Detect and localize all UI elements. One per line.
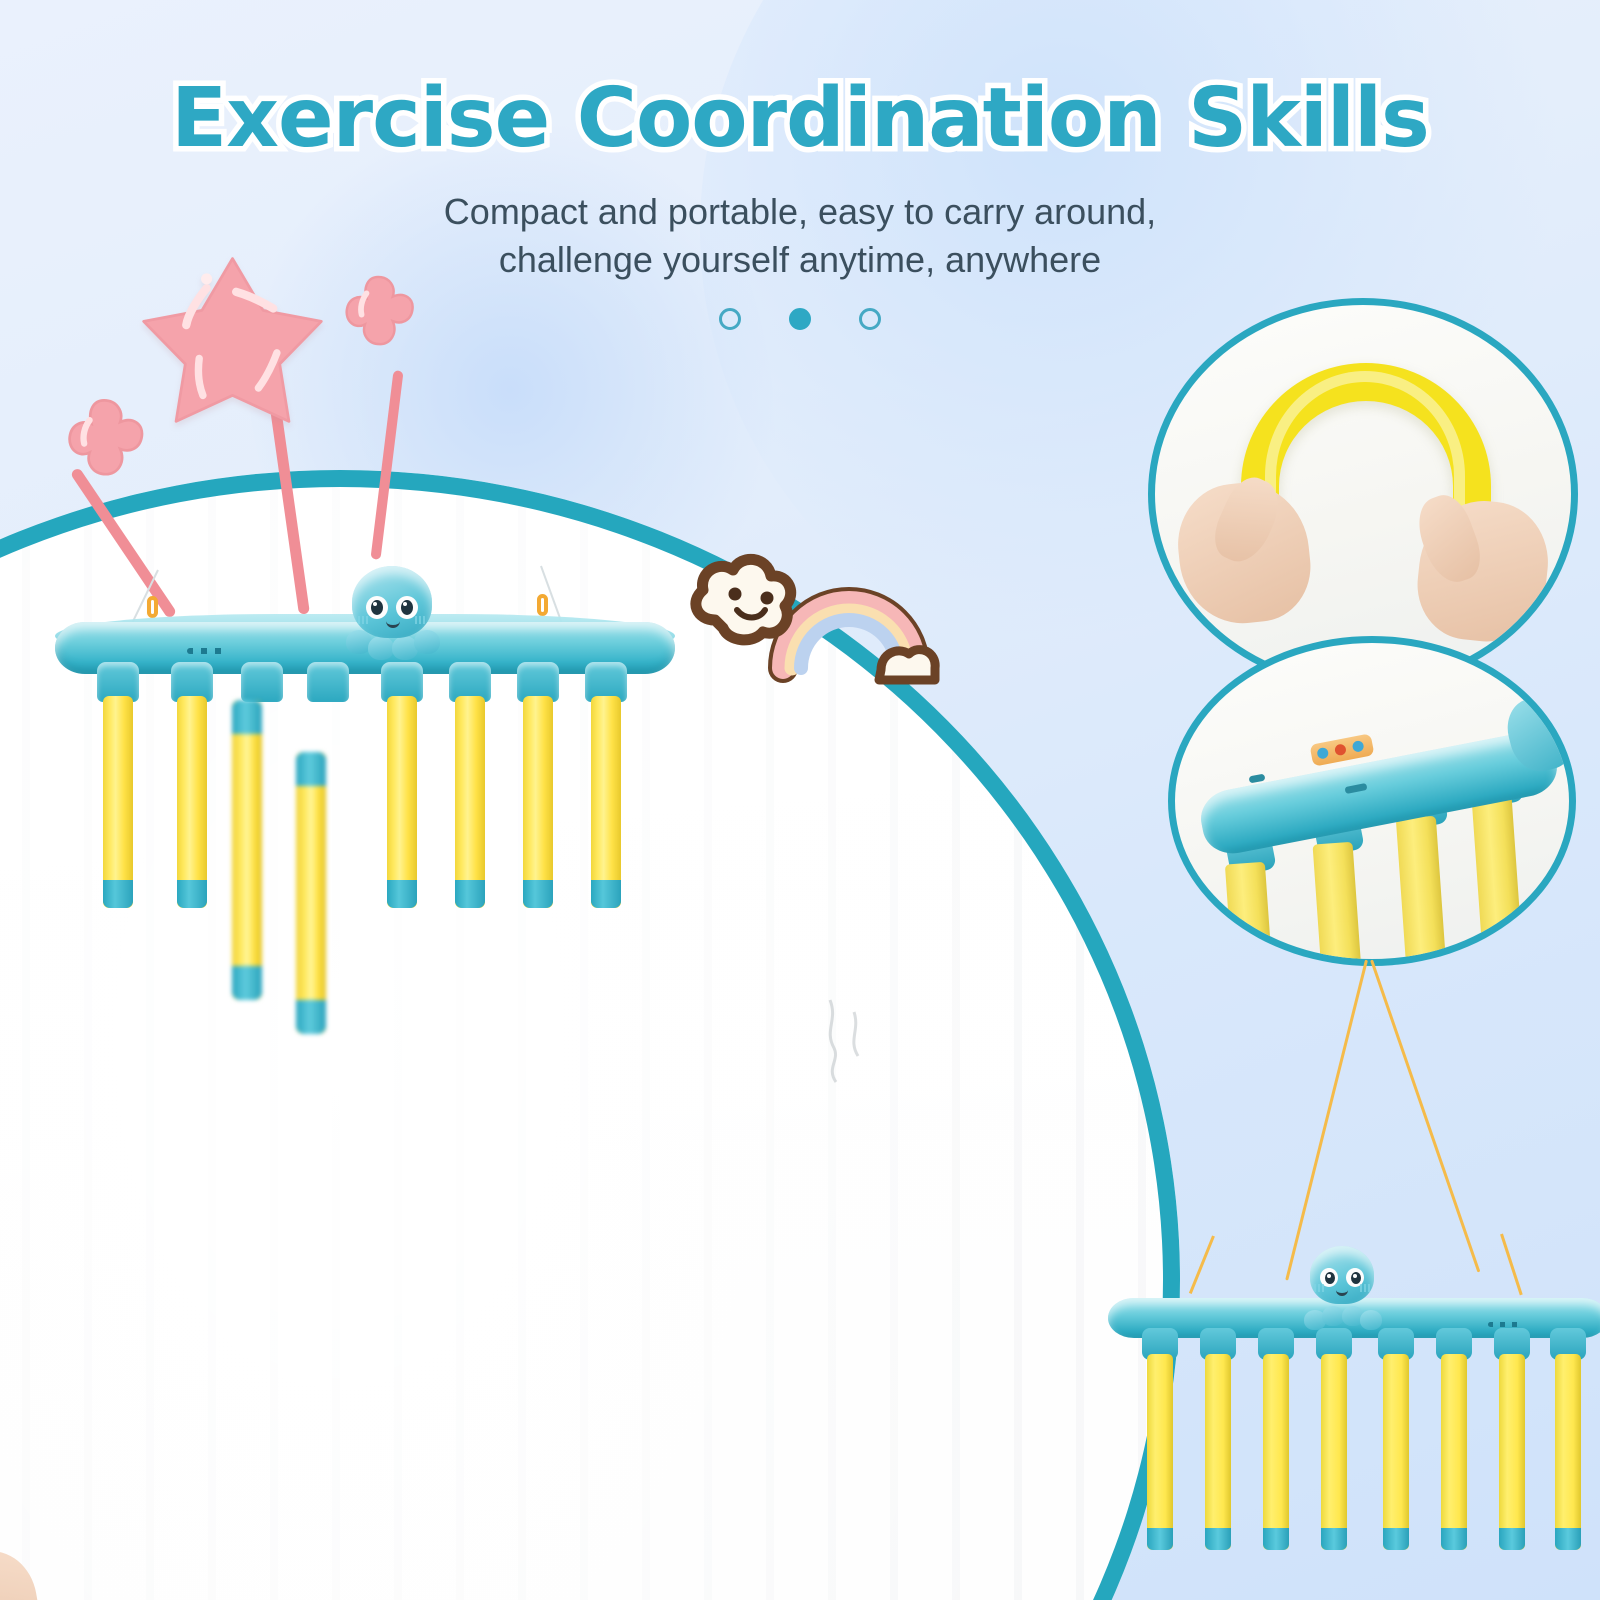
octopus-eye-left (366, 596, 388, 619)
yellow-stick (591, 696, 621, 908)
control-panel[interactable] (1309, 733, 1374, 766)
pagination-dot-1[interactable] (719, 308, 741, 330)
power-button (1316, 747, 1329, 760)
volume-button (1352, 740, 1365, 753)
wall-scribble (810, 990, 930, 1110)
octopus-blush-right (1360, 1284, 1371, 1292)
falling-stick-1 (232, 700, 262, 1000)
stick-cap-top (296, 752, 326, 786)
octopus-blush-right (415, 616, 426, 624)
pink-flower-right (336, 272, 420, 354)
subtitle-line-1: Compact and portable, easy to carry arou… (0, 188, 1600, 236)
stick-cap-top (232, 700, 262, 734)
stick-tip (455, 880, 485, 908)
carabiner-clip-left (147, 596, 158, 618)
flexible-stick-bend-closeup (1148, 298, 1578, 690)
stick-socket (241, 662, 283, 702)
stick-tip (103, 880, 133, 908)
yellow-stick (1313, 842, 1362, 966)
poster-canvas: Exercise Coordination Skills Compact and… (0, 0, 1600, 1600)
octopus-tentacle (1360, 1310, 1382, 1330)
yellow-stick (1263, 1354, 1289, 1550)
falling-stick-2 (296, 752, 326, 1034)
yellow-stick (455, 696, 485, 908)
octopus-mascot (342, 566, 442, 662)
pink-flower-left (58, 395, 150, 485)
pagination-dot-3[interactable] (859, 308, 881, 330)
boy-figure (140, 1590, 660, 1600)
yellow-stick (1383, 1354, 1409, 1550)
stick-tip (591, 880, 621, 908)
girl-right-hand (0, 1545, 47, 1600)
yellow-stick (1499, 1354, 1525, 1550)
hang-cord-right (1500, 1234, 1523, 1296)
yellow-stick (523, 696, 553, 908)
yellow-stick (1471, 794, 1522, 956)
stick-cap-bottom (296, 1000, 326, 1034)
cloud-right-puff (879, 650, 935, 680)
bar-indicator-dots (187, 648, 225, 654)
yellow-stick (1225, 862, 1273, 966)
page-title: Exercise Coordination Skills (0, 78, 1600, 160)
carabiner-clip-right (537, 594, 548, 616)
octopus-blush-left (358, 616, 369, 624)
cloud-rainbow-decoration (675, 528, 945, 688)
girl-figure (0, 1530, 120, 1600)
yellow-stick (1555, 1354, 1581, 1550)
yellow-stick (177, 696, 207, 908)
yellow-stick (1205, 1354, 1231, 1550)
yellow-stick (1396, 816, 1446, 966)
hang-cord-left (1189, 1235, 1215, 1294)
yellow-stick (1321, 1354, 1347, 1550)
octopus-tentacle (1322, 1306, 1344, 1326)
cloud-eye-left (729, 588, 742, 601)
cloud-face (696, 559, 791, 640)
octopus-stick-drop-toy (45, 600, 685, 960)
stick-tip (387, 880, 417, 908)
yellow-stick (387, 696, 417, 908)
control-panel-closeup (1168, 636, 1576, 966)
yellow-stick (1147, 1354, 1173, 1550)
cloud-eye-right (761, 592, 774, 605)
octopus-blush-left (1314, 1284, 1325, 1292)
octopus-stick-drop-toy-bottom (1090, 1270, 1600, 1600)
octopus-mascot (1302, 1246, 1382, 1322)
stick-cap-bottom (232, 966, 262, 1000)
connector-cord-right (1370, 960, 1480, 1273)
bar-indicator-dots (1488, 1322, 1520, 1327)
octopus-tentacle (414, 630, 440, 654)
yellow-stick (1441, 1354, 1467, 1550)
stick-tip (177, 880, 207, 908)
mode-button (1334, 743, 1347, 756)
pagination-dot-2-active[interactable] (789, 308, 811, 330)
pink-star-decoration (140, 250, 325, 428)
stick-tip (523, 880, 553, 908)
yellow-stick (103, 696, 133, 908)
octopus-tentacle (368, 636, 394, 660)
stick-socket (307, 662, 349, 702)
connector-cord-left (1285, 960, 1368, 1281)
